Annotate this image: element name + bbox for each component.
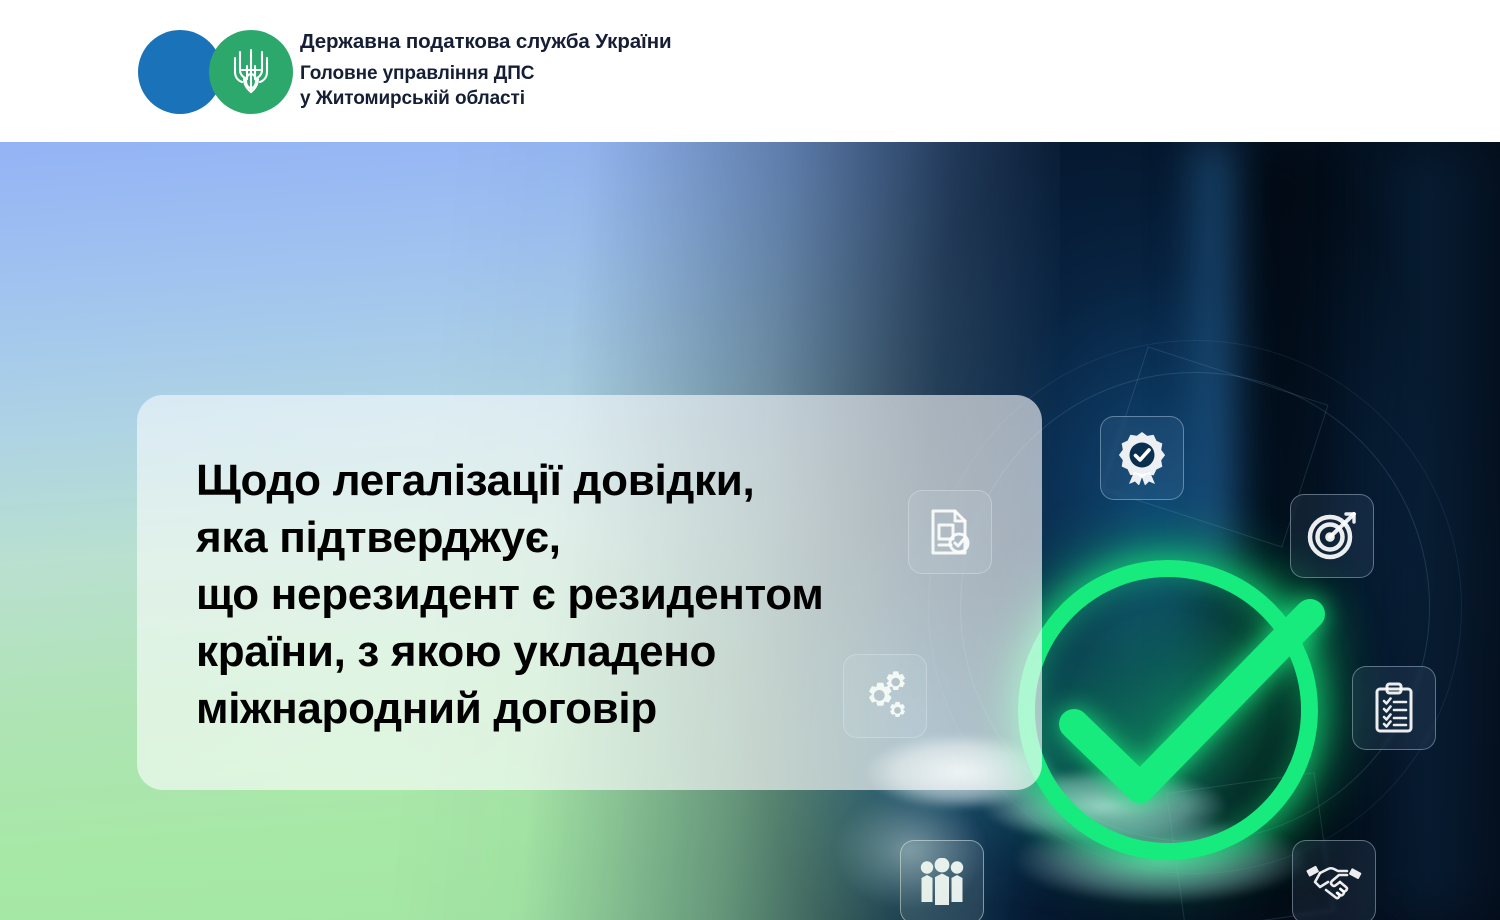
department-line-1: Головне управління ДПС: [300, 61, 672, 86]
agency-logo: [138, 28, 290, 116]
logo-green-circle: [209, 30, 293, 114]
checkmark-stroke: [1042, 592, 1332, 822]
headline-text: Щодо легалізації довідки, яка підтверджу…: [196, 452, 1016, 737]
clipboard-list-icon: [1352, 666, 1436, 750]
brand-block: Державна податкова служба України Головн…: [138, 28, 672, 116]
award-ribbon-icon: [1100, 416, 1184, 500]
brand-text-block: Державна податкова служба України Головн…: [300, 28, 672, 111]
target-icon: [1290, 494, 1374, 578]
ukrainian-trident-icon: [231, 46, 271, 98]
header-bar: Державна податкова служба України Головн…: [0, 0, 1500, 142]
org-name: Державна податкова служба України: [300, 29, 672, 55]
infographic-banner: Державна податкова служба України Головн…: [0, 0, 1500, 920]
green-neon-checkmark: [1018, 560, 1318, 860]
department-line-2: у Житомирській області: [300, 86, 672, 111]
handshake-icon: [1292, 840, 1376, 920]
